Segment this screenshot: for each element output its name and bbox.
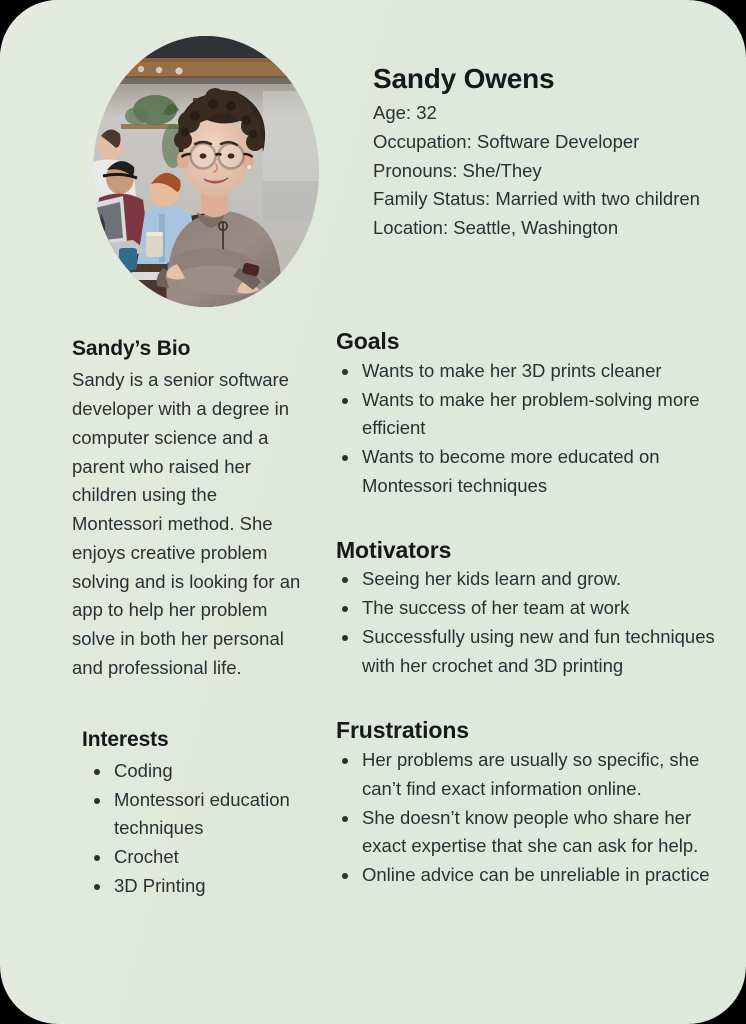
interests-section: Interests Coding Montessori education te… xyxy=(72,727,312,901)
frustrations-heading: Frustrations xyxy=(336,716,716,745)
list-item: The success of her team at work xyxy=(360,594,716,623)
interests-heading: Interests xyxy=(82,727,312,753)
list-item: Seeing her kids learn and grow. xyxy=(360,565,716,594)
frustrations-list: Her problems are usually so specific, sh… xyxy=(336,746,716,890)
motivators-section: Motivators Seeing her kids learn and gro… xyxy=(336,536,716,681)
detail-location: Location: Seattle, Washington xyxy=(373,214,713,243)
goals-heading: Goals xyxy=(336,327,716,356)
list-item: Online advice can be unreliable in pract… xyxy=(360,861,716,890)
left-column: Sandy’s Bio Sandy is a senior software d… xyxy=(72,336,312,901)
goals-section: Goals Wants to make her 3D prints cleane… xyxy=(336,327,716,501)
detail-occupation: Occupation: Software Developer xyxy=(373,128,713,157)
persona-header: Sandy Owens Age: 32 Occupation: Software… xyxy=(0,0,746,318)
list-item: Wants to become more educated on Montess… xyxy=(360,443,716,501)
detail-family-status: Family Status: Married with two children xyxy=(373,185,713,214)
list-item: Wants to make her 3D prints cleaner xyxy=(360,357,716,386)
list-item: Montessori education techniques xyxy=(112,786,312,844)
motivators-heading: Motivators xyxy=(336,536,716,565)
detail-pronouns: Pronouns: She/They xyxy=(373,157,713,186)
list-item: She doesn’t know people who share her ex… xyxy=(360,804,716,862)
list-item: 3D Printing xyxy=(112,872,312,901)
persona-card: Sandy Owens Age: 32 Occupation: Software… xyxy=(0,0,746,1024)
list-item: Successfully using new and fun technique… xyxy=(360,623,716,681)
identity-block: Sandy Owens Age: 32 Occupation: Software… xyxy=(373,64,713,243)
right-column: Goals Wants to make her 3D prints cleane… xyxy=(336,327,716,890)
list-item: Her problems are usually so specific, sh… xyxy=(360,746,716,804)
bio-paragraph: Sandy is a senior software developer wit… xyxy=(72,366,312,682)
goals-list: Wants to make her 3D prints cleaner Want… xyxy=(336,357,716,501)
list-item: Coding xyxy=(112,757,312,786)
interests-list: Coding Montessori education techniques C… xyxy=(82,757,312,901)
bio-heading: Sandy’s Bio xyxy=(72,336,312,362)
avatar xyxy=(93,36,319,307)
bio-section: Sandy’s Bio Sandy is a senior software d… xyxy=(72,336,312,683)
list-item: Wants to make her problem-solving more e… xyxy=(360,386,716,444)
page-title: Sandy Owens xyxy=(373,64,713,94)
list-item: Crochet xyxy=(112,843,312,872)
frustrations-section: Frustrations Her problems are usually so… xyxy=(336,716,716,890)
motivators-list: Seeing her kids learn and grow. The succ… xyxy=(336,565,716,680)
detail-age: Age: 32 xyxy=(373,99,713,128)
